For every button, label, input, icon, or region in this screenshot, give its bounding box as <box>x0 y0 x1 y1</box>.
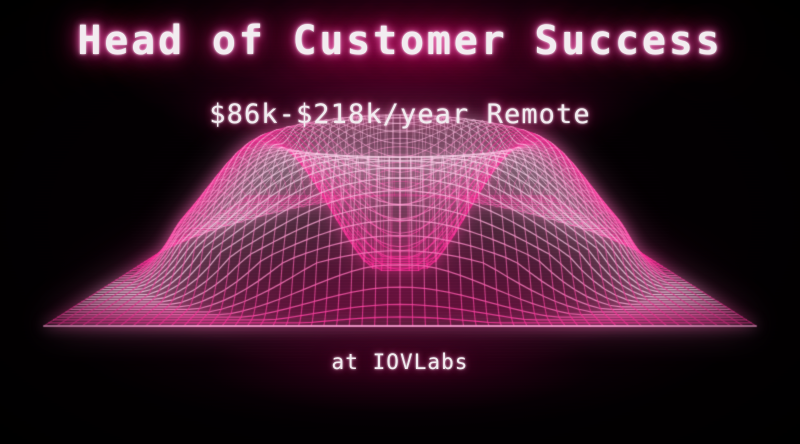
salary-subtitle: $86k-$218k/year Remote <box>0 98 800 132</box>
wireframe-surface-plot <box>0 0 800 444</box>
mesh-wireframe-canvas <box>0 0 800 444</box>
poster-card: Head of Customer Success $86k-$218k/year… <box>0 0 800 444</box>
page-title: Head of Customer Success <box>0 17 800 65</box>
company-label: at IOVLabs <box>0 349 800 375</box>
